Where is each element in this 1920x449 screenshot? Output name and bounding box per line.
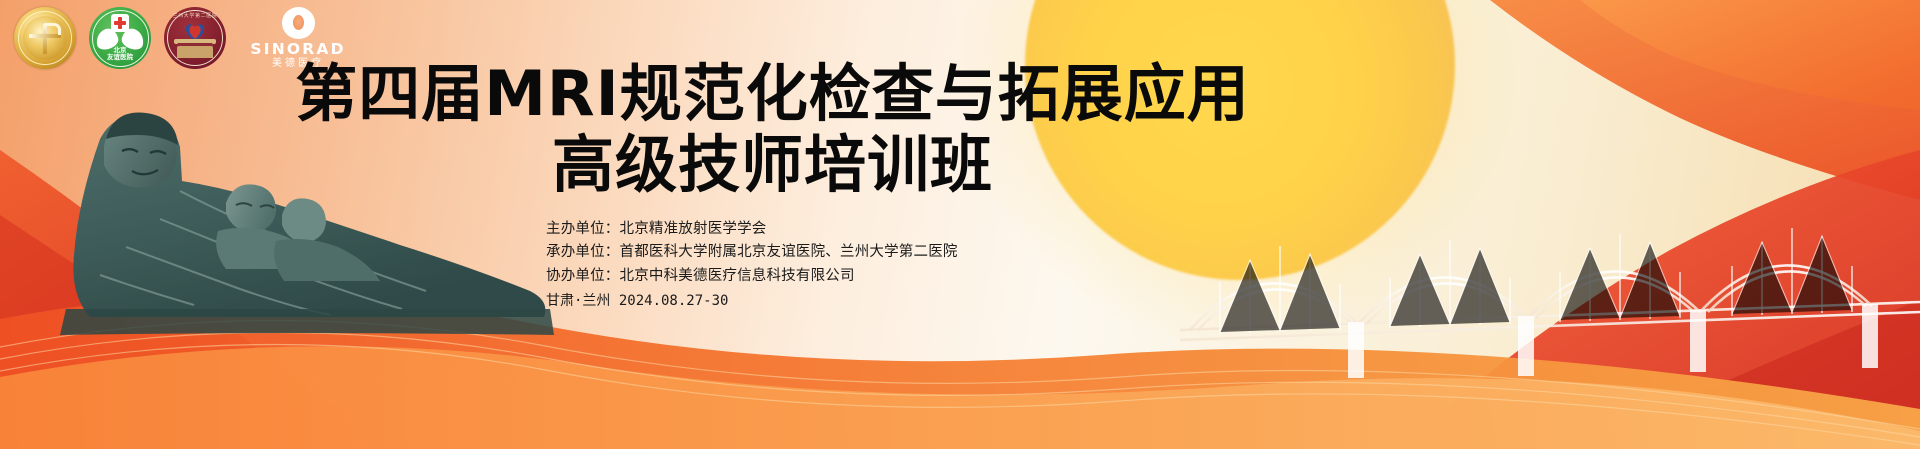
host-organization-line: 主办单位：北京精准放射医学学会	[546, 218, 1016, 241]
beijing-friendship-hospital-logo: 北京 友谊医院	[89, 7, 151, 69]
sinorad-brand-text: SINORAD	[250, 42, 345, 58]
supporting-organization-line: 协办单位：北京中科美德医疗信息科技有限公司	[546, 265, 1016, 288]
hospital-building-icon	[177, 43, 213, 58]
logo-hook-mark	[44, 23, 61, 35]
mogao-buddha-illustration	[30, 95, 570, 355]
beijing-precision-radiology-society-logo	[14, 7, 76, 69]
logo-hospital-name: 北京 友谊医院	[89, 47, 151, 62]
zhongshan-bridge-illustration	[1180, 162, 1920, 392]
logo-row: 北京 友谊医院 兰州大学第二医院 SINORAD 美德医疗	[14, 6, 357, 70]
medical-cross-horizontal	[114, 21, 126, 25]
logo-arc-text: 兰州大学第二医院	[164, 12, 226, 19]
organizer-details-block: 主办单位：北京精准放射医学学会 承办单位：首都医科大学附属北京友谊医院、兰州大学…	[546, 218, 1016, 313]
conference-banner: 北京 友谊医院 兰州大学第二医院 SINORAD 美德医疗 第四届MRI规范化检…	[0, 0, 1920, 449]
sinorad-eye-icon	[282, 7, 315, 39]
location-date-line: 甘肃·兰州 2024.08.27-30	[546, 290, 1016, 313]
co-host-organization-line: 承办单位：首都医科大学附属北京友谊医院、兰州大学第二医院	[546, 241, 1016, 264]
sinorad-brand-cn-text: 美德医疗	[272, 59, 324, 69]
sinorad-logo: SINORAD 美德医疗	[239, 7, 357, 69]
hospital-name-line2: 友谊医院	[89, 54, 151, 62]
lanzhou-university-second-hospital-logo: 兰州大学第二医院	[164, 7, 226, 69]
